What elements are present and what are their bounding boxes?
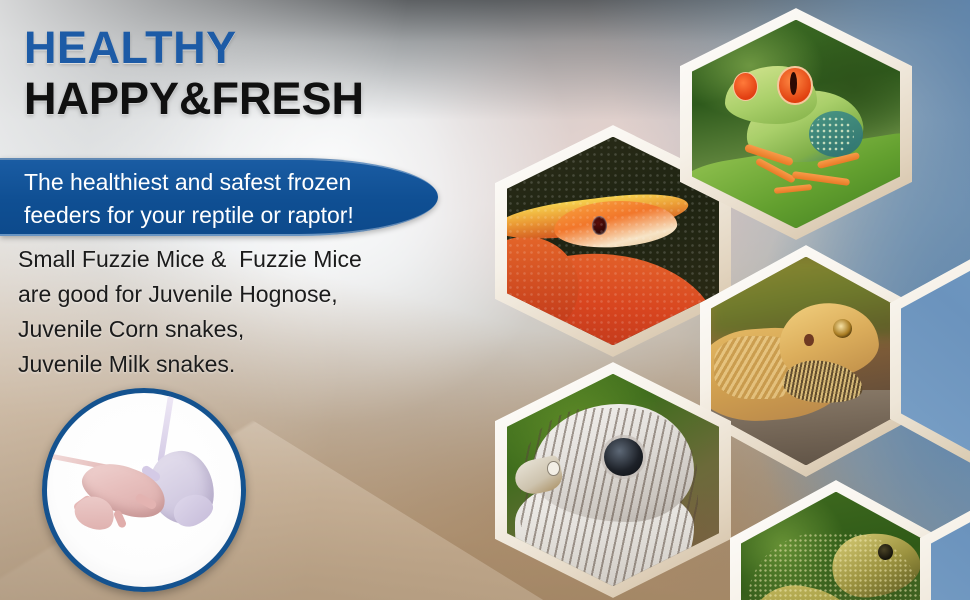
page-title: HEALTHY HAPPY&FRESH (24, 22, 364, 126)
tagline-line-1: The healthiest and safest frozen (24, 166, 414, 199)
dragon-eye (833, 319, 852, 338)
product-description: Small Fuzzie Mice & Fuzzie Mice are good… (18, 242, 418, 382)
falcon-eye (604, 438, 642, 476)
dragon-nostril (804, 334, 814, 347)
description-line-3: Juvenile Corn snakes, (18, 312, 418, 347)
description-line-4: Juvenile Milk snakes. (18, 347, 418, 382)
headline-line-healthy: HEALTHY (24, 22, 364, 74)
description-line-1: Small Fuzzie Mice & Fuzzie Mice (18, 242, 418, 277)
frog-legs (742, 145, 867, 208)
headline-line-happy-fresh: HAPPY&FRESH (24, 72, 364, 126)
frog-pupil (790, 72, 797, 95)
pinkie-mice-circle-photo (42, 388, 246, 592)
falcon-nostril (547, 461, 560, 476)
tagline-banner: The healthiest and safest frozen feeders… (0, 158, 438, 236)
tagline-line-2: feeders for your reptile or raptor! (24, 199, 414, 232)
description-line-2: are good for Juvenile Hognose, (18, 277, 418, 312)
product-marketing-banner: HEALTHY HAPPY&FRESH The healthiest and s… (0, 0, 970, 600)
